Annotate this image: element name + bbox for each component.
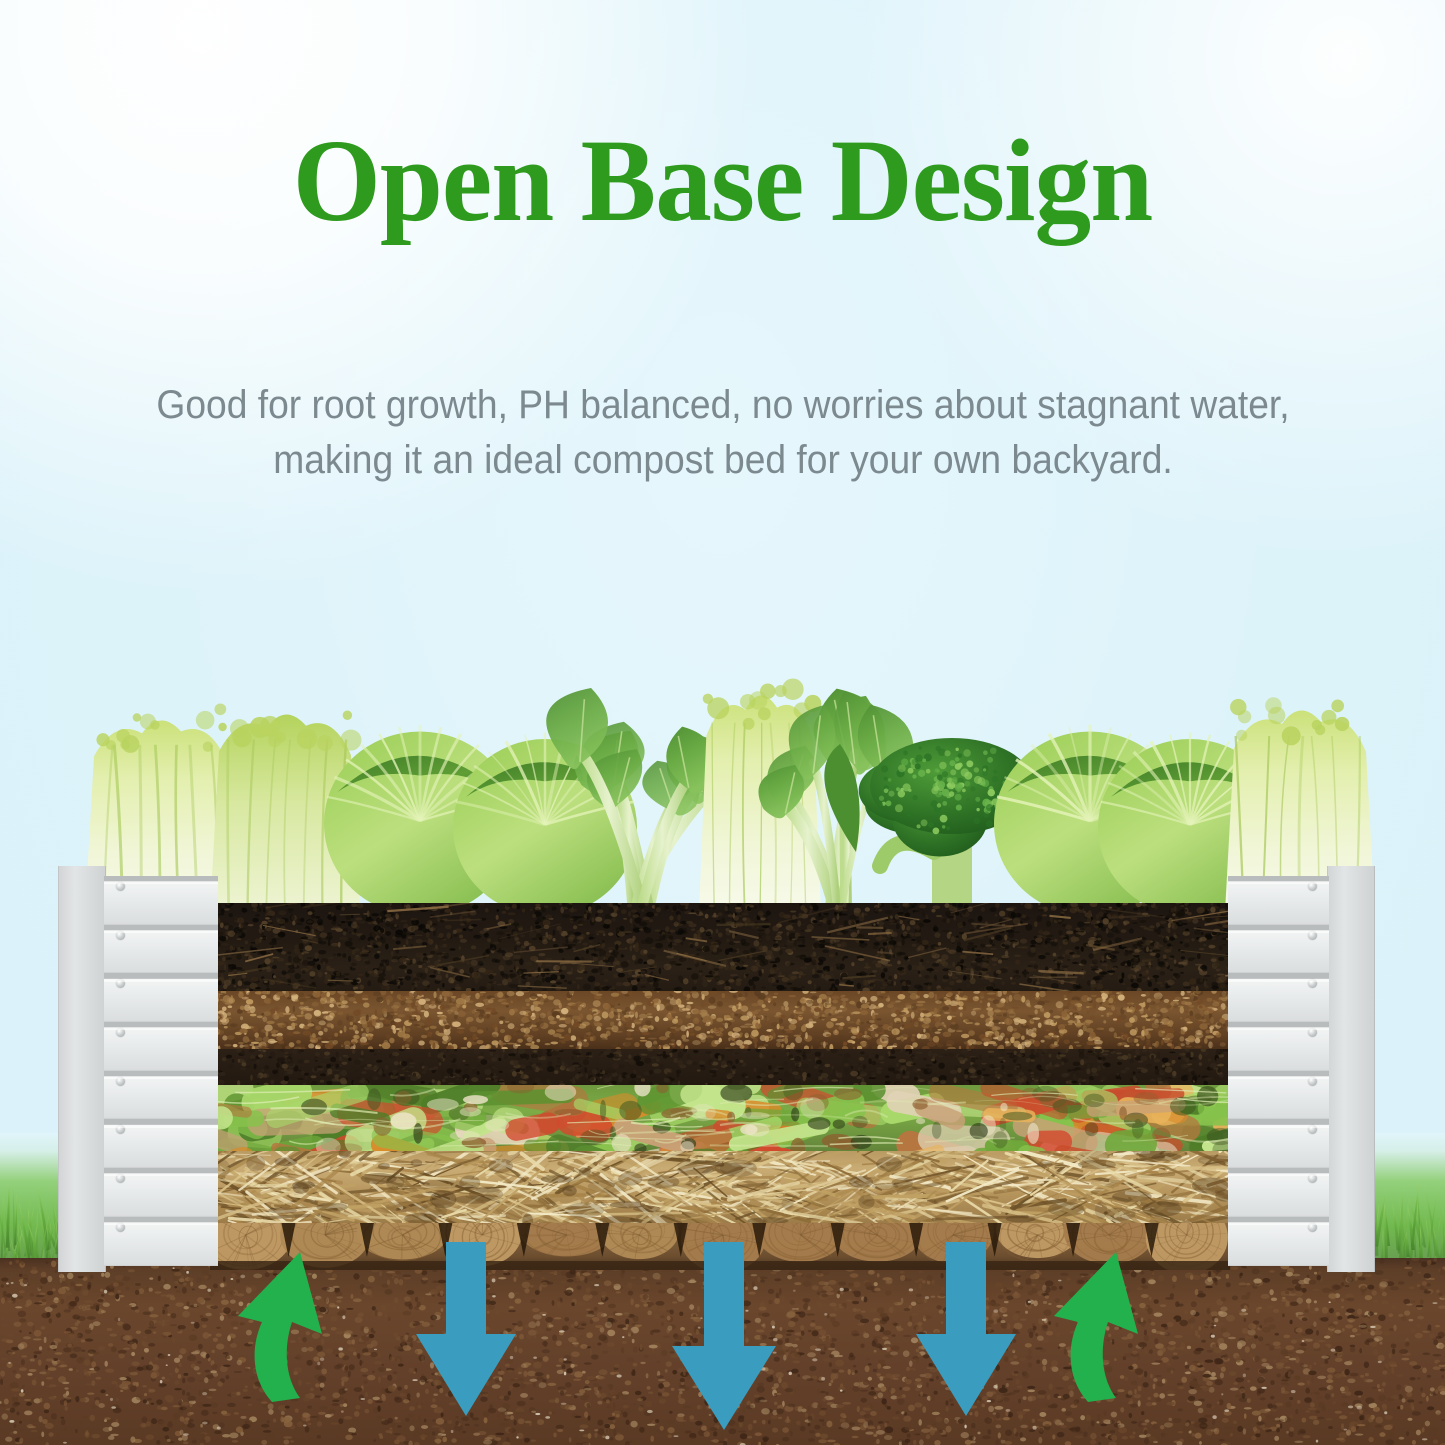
- screw-icon: [1308, 979, 1317, 988]
- arrow-up-left: [238, 1252, 322, 1402]
- left-post-side-panel: [58, 866, 106, 1272]
- right-corner-post: [1228, 866, 1375, 1272]
- screw-icon: [116, 979, 125, 988]
- layer-straw-mulch: [210, 1151, 1230, 1223]
- post-slat: [1228, 973, 1329, 1022]
- page-subtitle: Good for root growth, PH balanced, no wo…: [72, 378, 1374, 488]
- arrow-down-1: [416, 1242, 516, 1416]
- post-slat: [104, 876, 218, 925]
- arrow-down-2: [672, 1242, 776, 1430]
- screw-icon: [116, 1028, 125, 1037]
- right-post-side-panel: [1327, 866, 1375, 1272]
- screw-icon: [1308, 1028, 1317, 1037]
- screw-icon: [116, 882, 125, 891]
- screw-icon: [1308, 1077, 1317, 1086]
- subtitle-line-2: making it an ideal compost bed for your …: [72, 433, 1374, 488]
- screw-icon: [116, 931, 125, 940]
- screw-icon: [1308, 1174, 1317, 1183]
- feature-graphic-canvas: Open Base Design Good for root growth, P…: [0, 0, 1445, 1445]
- post-slat: [1228, 1022, 1329, 1071]
- screw-icon: [116, 1125, 125, 1134]
- screw-icon: [116, 1077, 125, 1086]
- post-slat: [104, 1168, 218, 1217]
- post-slat: [104, 973, 218, 1022]
- post-slat: [1228, 1168, 1329, 1217]
- screw-icon: [1308, 882, 1317, 891]
- screw-icon: [1308, 1125, 1317, 1134]
- post-slat: [104, 1022, 218, 1071]
- layer-topsoil: [210, 903, 1230, 991]
- left-post-slat-face: [104, 876, 218, 1266]
- screw-icon: [1308, 931, 1317, 940]
- layer-midsoil: [210, 991, 1230, 1049]
- raised-bed-cross-section: [210, 903, 1230, 1270]
- post-slat: [104, 1119, 218, 1168]
- post-slat: [1228, 1119, 1329, 1168]
- post-slat: [1228, 876, 1329, 925]
- page-title: Open Base Design: [29, 122, 1416, 240]
- arrow-up-right: [1054, 1252, 1138, 1402]
- subtitle-line-1: Good for root growth, PH balanced, no wo…: [72, 378, 1374, 433]
- post-slat: [104, 1071, 218, 1120]
- arrow-down-3: [916, 1242, 1016, 1416]
- airflow-drainage-arrows: [0, 1230, 1445, 1445]
- layer-lowsoil: [210, 1049, 1230, 1085]
- post-slat: [1228, 925, 1329, 974]
- layer-kitchen-scraps: [210, 1085, 1230, 1151]
- left-corner-post: [58, 866, 218, 1272]
- right-post-slat-face: [1228, 876, 1329, 1266]
- post-slat: [1228, 1071, 1329, 1120]
- screw-icon: [116, 1174, 125, 1183]
- post-slat: [104, 925, 218, 974]
